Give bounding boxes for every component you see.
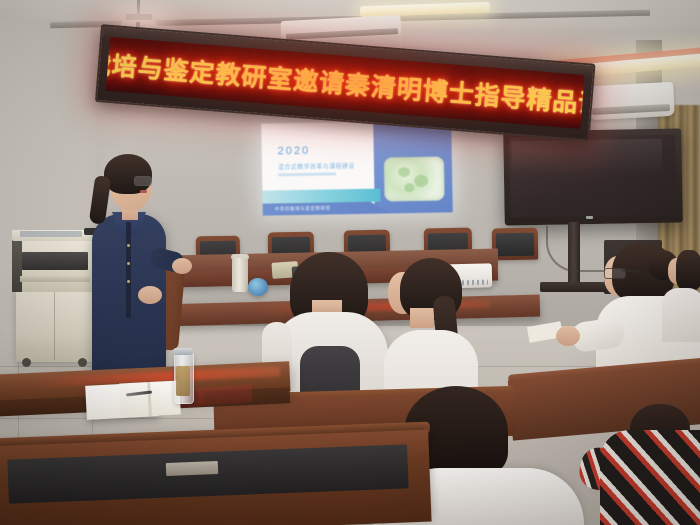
thermos-cup (232, 258, 248, 292)
glass-tumbler-lid (173, 348, 193, 355)
speaker-button-2 (127, 262, 130, 265)
slide-subtitle: 混合式教学改革与课程建设 (278, 161, 355, 171)
speaker-button-1 (127, 244, 130, 247)
slide-footer-bar: 中草药栽培与鉴定教研室 (263, 201, 391, 215)
projection-slide: 2020 混合式教学改革与课程建设 中草药栽培与鉴定教研室 (261, 120, 453, 215)
photocopier-paper-tray (20, 276, 90, 282)
slide-subtitle-underline (278, 172, 336, 176)
table-mat-right (197, 384, 252, 406)
cabinet-door-split (54, 290, 55, 360)
speaker-button-placket (126, 222, 131, 318)
speaker-hand-right (172, 258, 192, 274)
slide-image-box (384, 156, 445, 201)
photocopier-glass (20, 231, 82, 237)
photocopier-output-slot (22, 252, 88, 270)
projector-vent (462, 280, 488, 286)
photocopier-cabinet (16, 288, 94, 362)
slide-footer-text: 中草药栽培与鉴定教研室 (275, 205, 331, 212)
attendee-patterned-body (600, 430, 700, 525)
blue-round-object (248, 278, 268, 296)
slide-gradient-bar (262, 189, 380, 204)
chair-back-5 (492, 228, 539, 261)
attendee-far-right-hair (676, 250, 700, 290)
speaker-lips (140, 190, 147, 193)
photocopier-caster-left (22, 358, 31, 367)
tv-indicator-light (586, 216, 593, 219)
photocopier-side-panel (12, 238, 22, 292)
glass-tumbler-tea (176, 366, 190, 396)
speaker-hair (104, 154, 152, 194)
speaker-hand-left (138, 286, 162, 304)
meeting-room-photo: 2020 混合式教学改革与课程建设 中草药栽培与鉴定教研室 中草药栽培与鉴定教研… (0, 0, 700, 525)
attendee-glasses-hand (556, 326, 580, 346)
attendee-far-right-body (662, 288, 700, 342)
bench-name-plate (166, 461, 218, 476)
slide-notch (347, 122, 373, 138)
speaker-glasses (134, 176, 152, 186)
tv-screen-reflection (512, 139, 663, 178)
slide-title: 2020 (278, 145, 311, 158)
speaker-button-3 (127, 280, 130, 283)
attendee-ponytail-neck (410, 308, 434, 328)
photocopier-caster-right (78, 358, 87, 367)
